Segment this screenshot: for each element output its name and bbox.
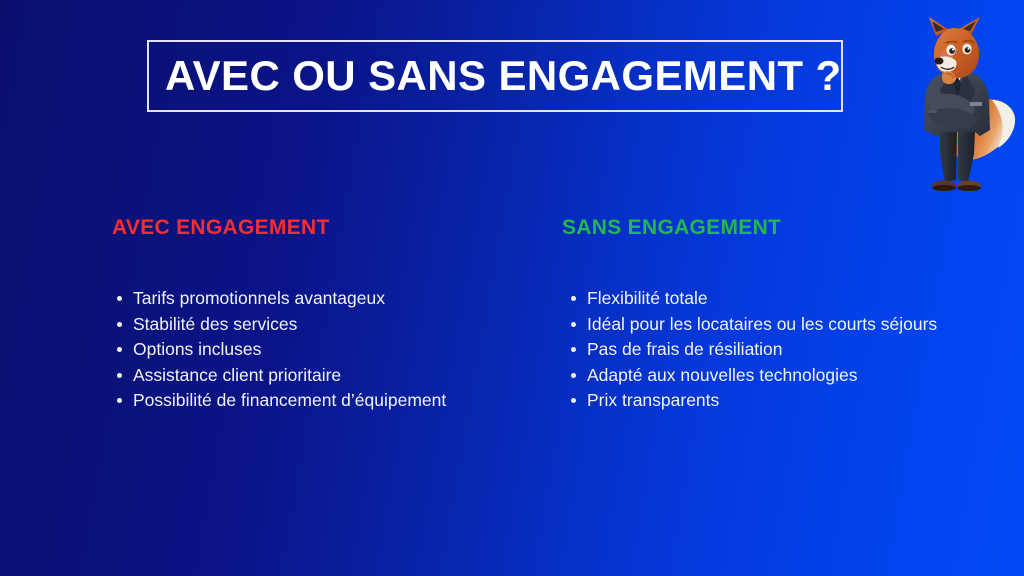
list-item: Flexibilité totale: [566, 286, 1016, 312]
list-item-label: Adapté aux nouvelles technologies: [587, 365, 857, 385]
list-item: Idéal pour les locataires ou les courts …: [566, 312, 1016, 338]
list-item: Options incluses: [112, 337, 542, 363]
list-item-label: Options incluses: [133, 339, 261, 359]
column-heading-sans-engagement: SANS ENGAGEMENT: [562, 216, 781, 240]
bullet-dot-icon: [117, 322, 122, 327]
column-heading-avec-engagement: AVEC ENGAGEMENT: [112, 216, 330, 240]
bullet-dot-icon: [571, 322, 576, 327]
list-item-label: Possibilité de financement d’équipement: [133, 390, 446, 410]
list-item-label: Flexibilité totale: [587, 288, 708, 308]
list-item-label: Assistance client prioritaire: [133, 365, 341, 385]
list-item-label: Idéal pour les locataires ou les courts …: [587, 314, 937, 334]
slide-canvas: AVEC OU SANS ENGAGEMENT ? AVEC ENGAGEMEN…: [0, 0, 1024, 576]
list-item: Adapté aux nouvelles technologies: [566, 363, 1016, 389]
list-item: Possibilité de financement d’équipement: [112, 388, 542, 414]
bullet-dot-icon: [571, 398, 576, 403]
list-item: Assistance client prioritaire: [112, 363, 542, 389]
bullet-dot-icon: [571, 296, 576, 301]
page-title: AVEC OU SANS ENGAGEMENT ?: [165, 47, 835, 105]
bullet-dot-icon: [117, 373, 122, 378]
list-item-label: Pas de frais de résiliation: [587, 339, 783, 359]
list-item-label: Tarifs promotionnels avantageux: [133, 288, 385, 308]
list-item: Stabilité des services: [112, 312, 542, 338]
benefit-list-avec-engagement: Tarifs promotionnels avantageux Stabilit…: [112, 286, 542, 414]
list-item-label: Stabilité des services: [133, 314, 297, 334]
list-item: Tarifs promotionnels avantageux: [112, 286, 542, 312]
list-item-label: Prix transparents: [587, 390, 719, 410]
benefit-list-sans-engagement: Flexibilité totale Idéal pour les locata…: [566, 286, 1016, 414]
list-item: Prix transparents: [566, 388, 1016, 414]
list-item: Pas de frais de résiliation: [566, 337, 1016, 363]
bullet-dot-icon: [571, 373, 576, 378]
bullet-dot-icon: [117, 398, 122, 403]
bullet-dot-icon: [571, 347, 576, 352]
bullet-dot-icon: [117, 347, 122, 352]
fox-mascot-in-suit-icon: [896, 14, 1018, 202]
bullet-dot-icon: [117, 296, 122, 301]
